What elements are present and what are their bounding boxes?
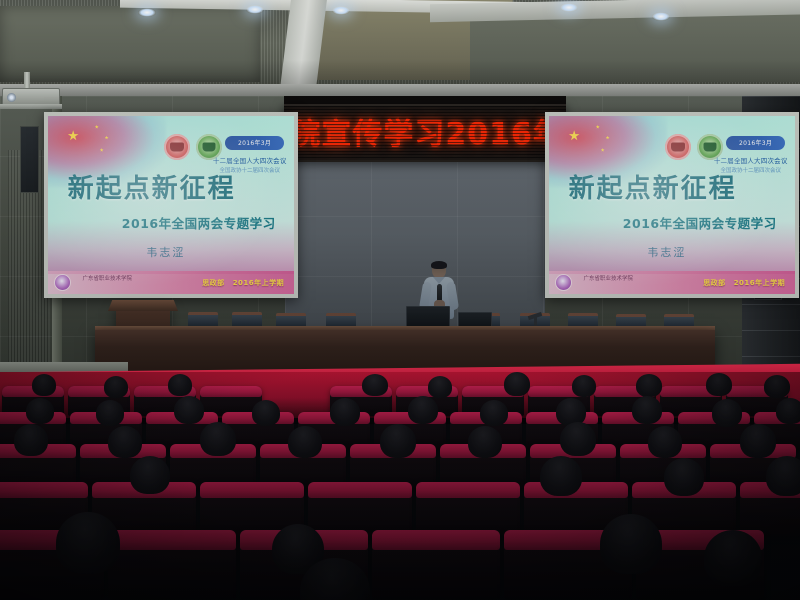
audience-head bbox=[766, 456, 800, 496]
audience-head bbox=[636, 374, 662, 397]
lectern-top bbox=[108, 300, 178, 311]
slide-footer-right: 思政部2016年上学期 bbox=[202, 278, 284, 288]
audience-head bbox=[130, 456, 170, 494]
audience-head bbox=[632, 396, 662, 424]
right-projection-screen: 2016年3月 十二届全国人大四次会议 全国政协十二届四次会议 新起点新征程 2… bbox=[545, 112, 799, 298]
audience-head bbox=[96, 400, 124, 426]
seat-cushion-top bbox=[108, 530, 236, 550]
audience-head-foreground bbox=[56, 512, 120, 574]
seat-cushion-top bbox=[372, 530, 500, 550]
audience-head bbox=[380, 424, 416, 458]
slide-footer-right-2: 2016年上学期 bbox=[233, 279, 284, 287]
npc-emblem-icon bbox=[665, 134, 691, 160]
audience-head bbox=[288, 426, 322, 458]
seat-cushion-top bbox=[308, 482, 412, 498]
audience-head bbox=[776, 398, 800, 424]
audience-head bbox=[712, 399, 742, 427]
auditorium-seat bbox=[416, 482, 520, 536]
slide-badge-line2: 全国政协十二届四次会议 bbox=[711, 166, 790, 174]
right-screen-surface: 2016年3月 十二届全国人大四次会议 全国政协十二届四次会议 新起点新征程 2… bbox=[549, 116, 795, 294]
audience-head-foreground bbox=[600, 514, 662, 574]
audience-head bbox=[480, 400, 508, 426]
auditorium-seat bbox=[108, 530, 236, 598]
seat-cushion-top bbox=[416, 482, 520, 498]
audience-head bbox=[168, 374, 192, 396]
audience-head bbox=[200, 422, 236, 456]
audience-head bbox=[468, 426, 502, 458]
university-logo-icon bbox=[556, 275, 571, 290]
audience-head bbox=[428, 376, 452, 398]
left-screen-surface: 2016年3月 十二届全国人大四次会议 全国政协十二届四次会议 新起点新征程 2… bbox=[48, 116, 294, 294]
audience-head bbox=[108, 426, 142, 458]
slide-title: 新起点新征程 bbox=[68, 175, 275, 203]
projector-support-arm bbox=[0, 104, 62, 109]
audience-head bbox=[764, 375, 790, 398]
slide-badge-line2: 全国政协十二届四次会议 bbox=[210, 166, 289, 174]
audience-head bbox=[174, 396, 204, 424]
audience-head-foreground bbox=[704, 530, 762, 586]
slide-subtitle: 2016年全国两会专题学习 bbox=[623, 217, 790, 231]
slide-signature: 韦志涩 bbox=[146, 244, 244, 260]
slide-badge-line1: 十二届全国人大四次会议 bbox=[711, 155, 790, 165]
slide-footer-bar: 广东省职业技术学院 思政部2016年上学期 bbox=[549, 271, 795, 294]
audience-head bbox=[560, 422, 596, 456]
npc-emblem-icon bbox=[164, 134, 190, 160]
slide-footer-right-2: 2016年上学期 bbox=[734, 279, 785, 287]
university-logo-icon bbox=[55, 275, 70, 290]
slide-footer-org: 广东省职业技术学院 bbox=[82, 276, 200, 282]
downlight-icon bbox=[652, 12, 670, 21]
ceiling-shadow bbox=[0, 60, 800, 100]
presenter-hair bbox=[431, 261, 447, 269]
auditorium-photo: ·院宣传学习2016年全 2016年3月 十二届全国人大四次会议 全国政协十二届… bbox=[0, 0, 800, 600]
audience-head bbox=[32, 374, 56, 396]
audience-head bbox=[572, 375, 596, 397]
audience-head bbox=[706, 373, 732, 396]
wall-mounted-panel bbox=[20, 126, 39, 193]
slide-title: 新起点新征程 bbox=[569, 175, 776, 203]
slide-subtitle: 2016年全国两会专题学习 bbox=[122, 217, 289, 231]
slide-date-badge-text: 2016年3月 bbox=[238, 138, 271, 147]
audience-seating bbox=[0, 372, 800, 600]
audience-head bbox=[14, 424, 48, 456]
led-scrolling-banner: ·院宣传学习2016年全 bbox=[284, 104, 566, 162]
slide-footer-right-1: 思政部 bbox=[703, 279, 726, 287]
slide-footer-bar: 广东省职业技术学院 思政部2016年上学期 bbox=[48, 271, 294, 294]
slide-signature: 韦志涩 bbox=[647, 244, 745, 260]
audience-head bbox=[330, 398, 360, 426]
slide-date-badge-text: 2016年3月 bbox=[739, 138, 772, 147]
downlight-icon bbox=[560, 3, 578, 12]
auditorium-seat bbox=[308, 482, 412, 536]
downlight-icon bbox=[138, 8, 156, 17]
audience-head bbox=[362, 374, 388, 396]
downlight-icon bbox=[246, 5, 264, 14]
projector-lens-icon bbox=[7, 93, 16, 102]
downlight-icon bbox=[332, 6, 350, 15]
audience-head bbox=[26, 398, 54, 424]
slide-footer-right-1: 思政部 bbox=[202, 279, 225, 287]
slide-footer-right: 思政部2016年上学期 bbox=[703, 278, 785, 288]
audience-head bbox=[104, 376, 128, 398]
left-projection-screen: 2016年3月 十二届全国人大四次会议 全国政协十二届四次会议 新起点新征程 2… bbox=[44, 112, 298, 298]
audience-head bbox=[740, 424, 776, 458]
ceiling bbox=[0, 0, 800, 96]
audience-head bbox=[504, 372, 530, 396]
led-banner-text: ·院宣传学习2016年全 bbox=[284, 120, 566, 150]
auditorium-seat bbox=[372, 530, 500, 598]
seat-cushion-top bbox=[200, 482, 304, 498]
seat-cushion-top bbox=[200, 386, 262, 397]
slide-badge-line1: 十二届全国人大四次会议 bbox=[210, 155, 289, 165]
seat-cushion-top bbox=[0, 482, 88, 498]
slide-date-badge: 2016年3月 bbox=[726, 136, 785, 150]
audience-head bbox=[540, 456, 582, 496]
slide-footer-org: 广东省职业技术学院 bbox=[583, 276, 701, 282]
audience-head bbox=[648, 426, 682, 458]
audience-head bbox=[252, 400, 280, 426]
audience-head bbox=[408, 396, 438, 424]
audience-head bbox=[664, 458, 704, 496]
slide-date-badge: 2016年3月 bbox=[225, 136, 284, 150]
